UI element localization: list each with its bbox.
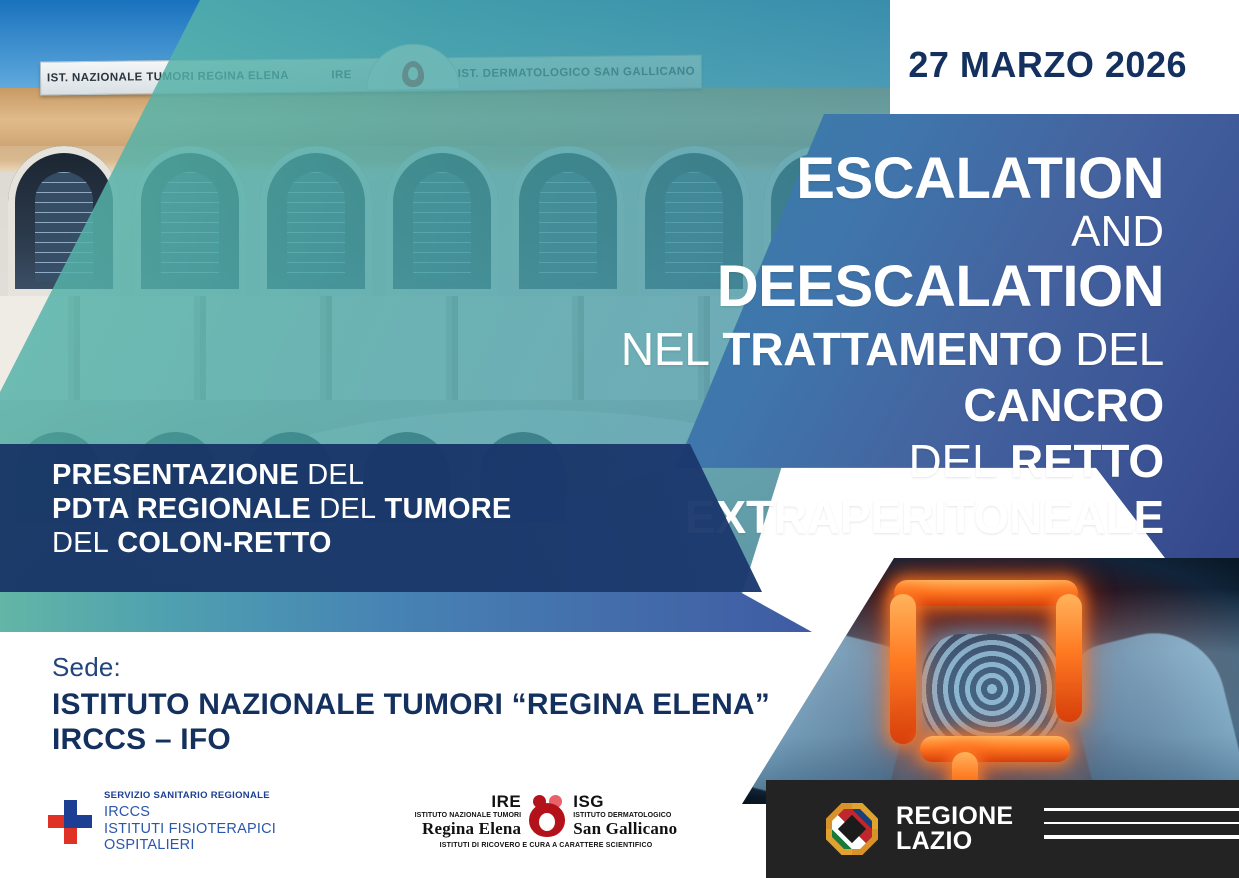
subtitle-word-del-2: DEL [319, 493, 376, 525]
subtitle-line-2: PDTA REGIONALE DEL TUMORE [52, 492, 692, 526]
venue-block: Sede: ISTITUTO NAZIONALE TUMORI “REGINA … [52, 652, 770, 758]
logo-isg-column: ISG ISTITUTO DERMATOLOGICO San Gallicano [573, 792, 677, 839]
subtitle-word-del-1: DEL [307, 459, 364, 491]
logo-irccs-ifo: SERVIZIO SANITARIO REGIONALE IRCCS ISTIT… [48, 790, 276, 854]
title-word-retto: RETTO [1010, 435, 1164, 487]
logo-ire-column: IRE ISTITUTO NAZIONALE TUMORI Regina Ele… [415, 792, 522, 839]
event-date-daymonth: 27 MARZO [908, 44, 1094, 85]
logo-ire-name: Regina Elena [415, 819, 522, 839]
logo-ire-isg-row: IRE ISTITUTO NAZIONALE TUMORI Regina Ele… [406, 792, 686, 839]
subtitle-word-colon-retto: COLON-RETTO [117, 527, 331, 559]
title-line-and: AND [464, 210, 1164, 254]
subtitle-word-del-3: DEL [52, 527, 109, 559]
logo-isg-abbr: ISG [573, 792, 677, 812]
logo-regione-lazio-text: REGIONE LAZIO [896, 804, 1013, 855]
subtitle-word-presentazione: PRESENTAZIONE [52, 459, 299, 491]
subtitle-line-1: PRESENTAZIONE DEL [52, 458, 692, 492]
logo-ire-footer: ISTITUTI DI RICOVERO E CURA A CARATTERE … [406, 842, 686, 849]
logo-irccs-line-3: OSPITALIERI [104, 837, 276, 854]
apple-heart-icon [527, 795, 567, 837]
logo-ire-isg: IRE ISTITUTO NAZIONALE TUMORI Regina Ele… [406, 792, 686, 849]
subtitle-line-3: DEL COLON-RETTO [52, 526, 692, 560]
colon-graphic [860, 576, 1110, 791]
venue-name: ISTITUTO NAZIONALE TUMORI “REGINA ELENA” [52, 687, 770, 722]
medical-cross-icon [48, 800, 92, 844]
gradient-accent-band [0, 592, 812, 632]
colon-transverse [894, 580, 1078, 606]
title-word-del-1: DEL [1075, 323, 1164, 375]
subtitle-word-pdta-regionale: PDTA REGIONALE [52, 493, 311, 525]
title-line-escalation: ESCALATION [464, 150, 1164, 208]
logo-irccs-top-text: SERVIZIO SANITARIO REGIONALE [104, 790, 276, 801]
intestine-illustration [742, 558, 1239, 804]
title-word-del-2: DEL [908, 435, 997, 487]
logo-isg-name: San Gallicano [573, 819, 677, 839]
title-word-cancro: CANCRO [963, 379, 1164, 431]
subtitle-word-tumore: TUMORE [385, 493, 512, 525]
title-line-trattamento: NEL TRATTAMENTO DEL [464, 326, 1164, 372]
logo-irccs-line-2: ISTITUTI FISIOTERAPICI [104, 821, 276, 838]
event-date-year: 2026 [1105, 44, 1187, 85]
title-line-deescalation: DEESCALATION [464, 258, 1164, 316]
regione-lazio-emblem-icon [826, 803, 878, 855]
logo-isg-subtitle: ISTITUTO DERMATOLOGICO [573, 812, 677, 819]
title-line-cancro: CANCRO [464, 382, 1164, 428]
logo-regione-lazio-line-2: LAZIO [896, 829, 1013, 855]
title-word-nel: NEL [621, 323, 710, 375]
colon-ascending [890, 594, 916, 744]
venue-label: Sede: [52, 652, 770, 683]
regione-lazio-stripes [1044, 808, 1239, 850]
conference-poster: IST. NAZIONALE TUMORI REGINA ELENA IRE I… [0, 0, 1239, 878]
logo-regione-lazio: REGIONE LAZIO [766, 780, 1239, 878]
colon-descending [1056, 594, 1082, 722]
colon-sigmoid [920, 736, 1070, 762]
venue-institute: IRCCS – IFO [52, 722, 770, 757]
title-word-trattamento: TRATTAMENTO [722, 323, 1062, 375]
logo-irccs-line-1: IRCCS [104, 804, 276, 821]
logo-irccs-text: SERVIZIO SANITARIO REGIONALE IRCCS ISTIT… [104, 790, 276, 854]
subtitle-text: PRESENTAZIONE DEL PDTA REGIONALE DEL TUM… [52, 458, 692, 561]
small-intestine-graphic [922, 634, 1062, 744]
event-date: 27 MARZO 2026 [908, 44, 1187, 86]
logo-regione-lazio-line-1: REGIONE [896, 804, 1013, 830]
title-word-extraperitoneale: EXTRAPERITONEALE [685, 491, 1164, 543]
logo-ire-subtitle: ISTITUTO NAZIONALE TUMORI [415, 812, 522, 819]
logo-ire-abbr: IRE [415, 792, 522, 812]
